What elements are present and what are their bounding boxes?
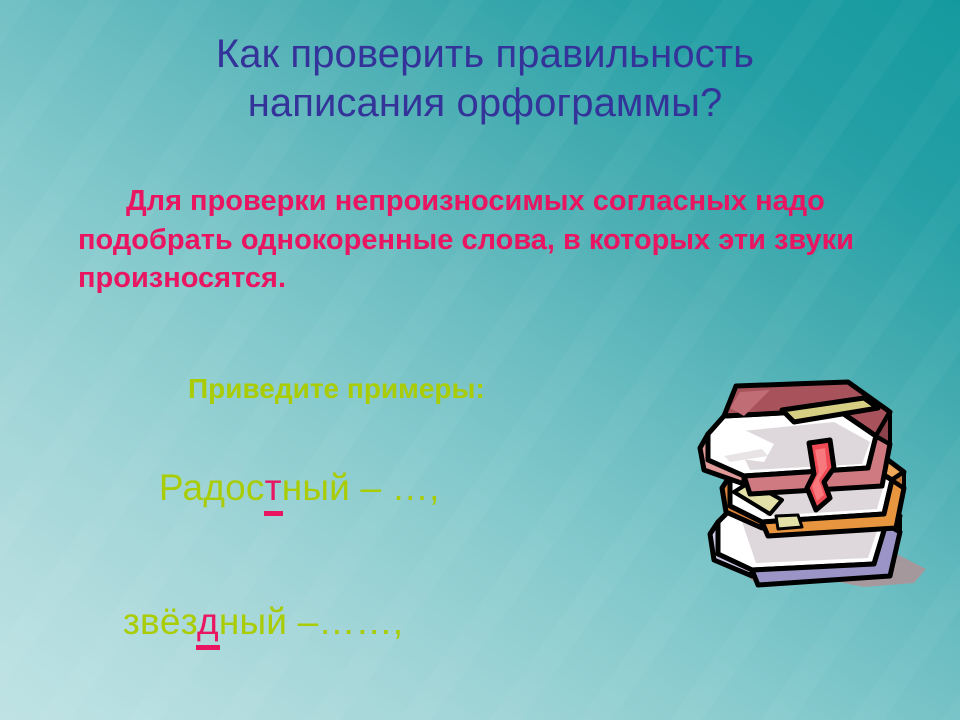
stack-of-books-icon	[678, 364, 954, 614]
page-title-line-2: написания орфограммы?	[70, 79, 900, 128]
example-line: счастливый – ……..	[56, 700, 696, 720]
example-line: Радостный – …,	[56, 432, 696, 543]
slide-canvas: Как проверить правильность написания орф…	[0, 0, 960, 720]
example-suffix: ный – …,	[282, 467, 440, 508]
examples-prompt: Приведите примеры:	[78, 372, 678, 406]
page-title: Как проверить правильность написания орф…	[70, 30, 900, 128]
example-line: звёздный –……,	[56, 566, 696, 677]
rule-statement-paragraph: Для проверки непроизносимых согласных на…	[78, 182, 878, 298]
example-prefix: звёз	[123, 601, 197, 642]
example-suffix: ный –……,	[219, 601, 403, 642]
page-title-line-1: Как проверить правильность	[70, 30, 900, 79]
example-prefix: Радос	[159, 467, 265, 508]
example-highlight-letter: т	[265, 467, 282, 509]
example-highlight-letter: д	[197, 601, 219, 643]
examples-list: Радостный – …, звёздный –……, счастливый …	[56, 432, 696, 720]
